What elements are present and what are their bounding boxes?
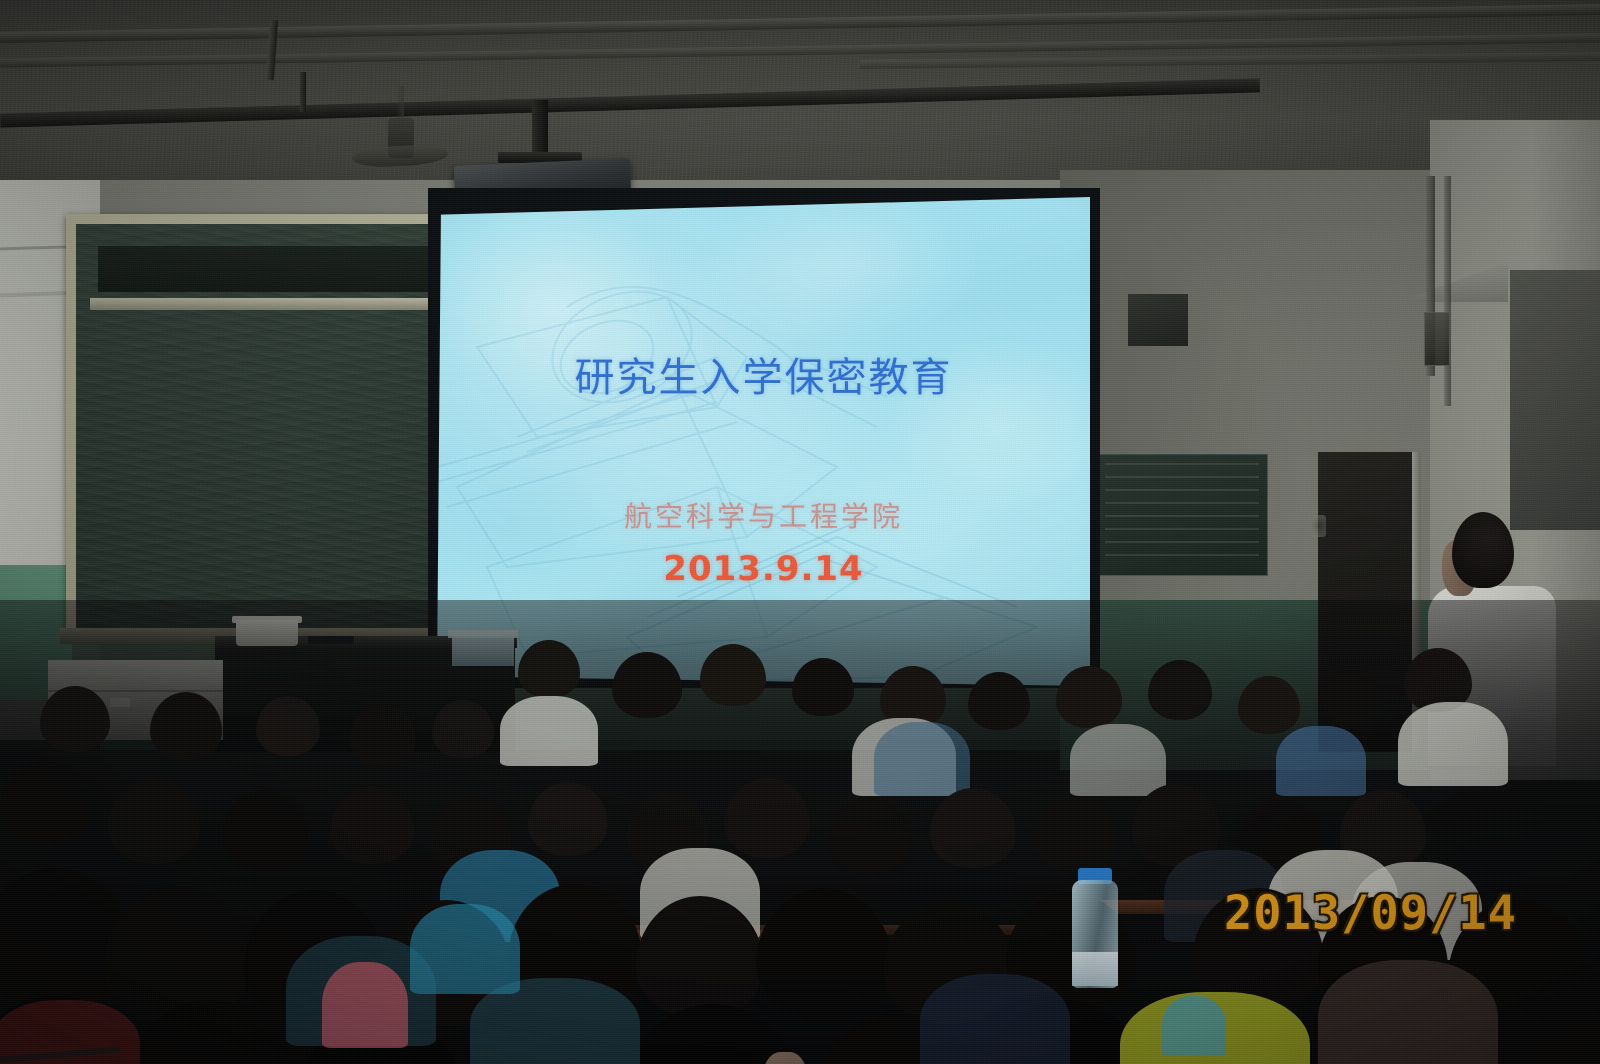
- wall-vent: [1128, 294, 1188, 346]
- audience-head: [350, 704, 416, 766]
- audience-head: [968, 672, 1030, 730]
- audience-head: [256, 696, 320, 756]
- projector-mount-pole: [532, 100, 548, 158]
- audience-head: [518, 640, 580, 698]
- audience-body: [1070, 724, 1166, 796]
- audience-body-pink: [322, 962, 408, 1048]
- blackboard-surface: [76, 224, 460, 628]
- blackboard: [66, 214, 466, 634]
- blackboard-upper-panel: [98, 246, 428, 292]
- audience-head: [792, 658, 854, 716]
- slide-date: 2013.9.14: [663, 549, 863, 589]
- lecture-hall-photo: 研究生入学保密教育 航空科学与工程学院 2013.9.14: [0, 0, 1600, 1064]
- audience-body: [874, 722, 970, 796]
- audience-head: [1056, 666, 1122, 728]
- bottle-label: [1072, 952, 1118, 986]
- audience-body: [500, 696, 598, 766]
- standing-person-head: [1452, 512, 1514, 588]
- wall-panel: [1510, 270, 1600, 530]
- audience-body-plaid: [1318, 960, 1498, 1064]
- wall-pipe: [1444, 176, 1451, 406]
- ceiling-pipe-drop: [300, 72, 306, 112]
- audience-collar-blue: [1162, 996, 1226, 1056]
- audience: [0, 600, 1600, 1064]
- audience-head: [1322, 670, 1382, 726]
- audience-body: [1276, 726, 1366, 796]
- slide-organization: 航空科学与工程学院: [624, 495, 903, 535]
- electrical-box: [1424, 312, 1450, 366]
- slide-title: 研究生入学保密教育: [575, 345, 953, 403]
- audience-head: [1238, 676, 1300, 734]
- audience-body: [1398, 702, 1508, 786]
- camera-timestamp: 2013/09/14: [1224, 886, 1517, 941]
- audience-body-blue: [410, 904, 520, 994]
- audience-head: [432, 700, 494, 758]
- audience-head: [700, 644, 766, 706]
- blackboard-rail: [90, 298, 440, 310]
- audience-head: [1148, 660, 1212, 720]
- notice-board-text: [1105, 463, 1259, 567]
- wall-mark: [1312, 515, 1326, 537]
- notice-board: [1096, 454, 1268, 576]
- ceiling-fan-rod: [396, 86, 404, 122]
- audience-body-dark: [920, 974, 1070, 1064]
